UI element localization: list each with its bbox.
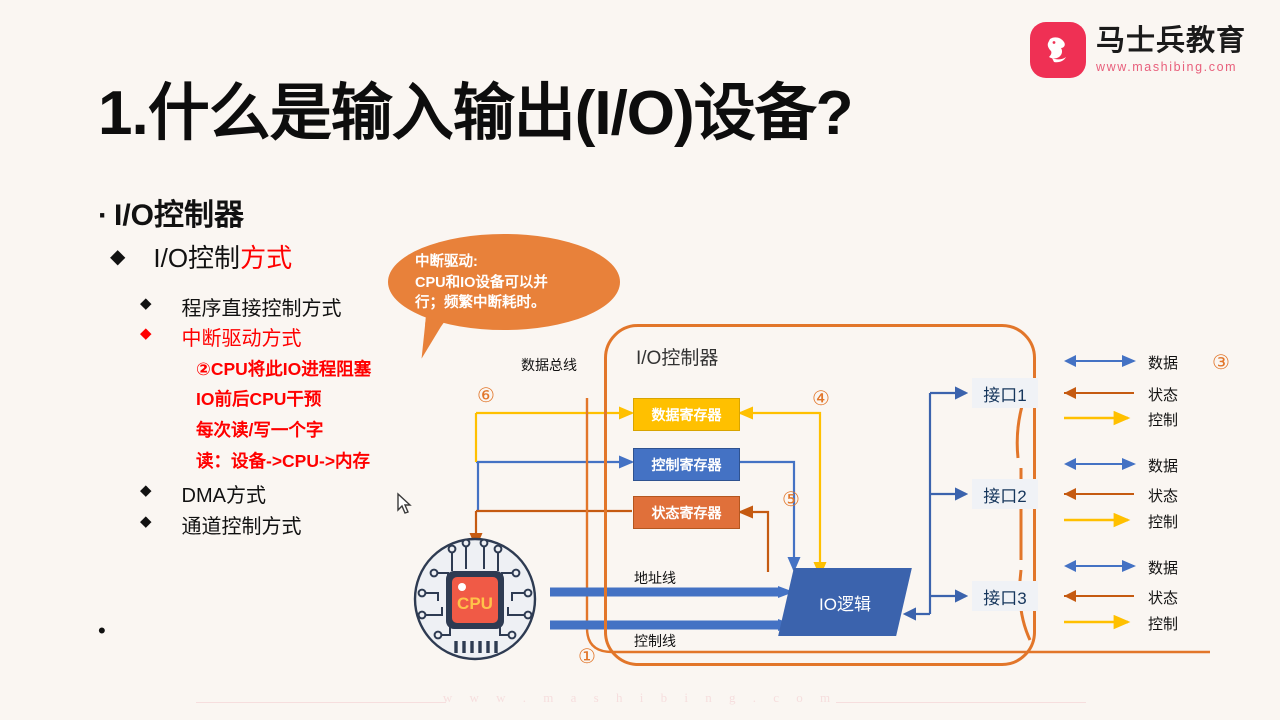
- signal-status-2: 状态: [1148, 485, 1178, 506]
- cpu-icon: CPU: [404, 535, 547, 663]
- step-number-6: ⑥: [477, 383, 495, 408]
- step-number-4: ④: [812, 386, 830, 411]
- watermark-rule-right: [836, 702, 1086, 703]
- register-control[interactable]: 控制寄存器: [633, 448, 740, 481]
- io-logic-label: IO逻辑: [786, 568, 904, 636]
- signal-control-3: 控制: [1148, 613, 1178, 634]
- step-number-3: ③: [1212, 350, 1230, 375]
- signal-control-2: 控制: [1148, 511, 1178, 532]
- signal-data-3: 数据: [1148, 557, 1178, 578]
- control-line-label: 控制线: [634, 631, 676, 651]
- io-controller-title: I/O控制器: [636, 343, 718, 370]
- interface-2[interactable]: 接口2: [972, 479, 1038, 509]
- signal-status-3: 状态: [1148, 587, 1178, 608]
- step-number-1: ①: [578, 644, 596, 669]
- cpu-label: CPU: [457, 594, 493, 613]
- step-number-5: ⑤: [782, 487, 800, 512]
- signal-control-1: 控制: [1148, 409, 1178, 430]
- signal-data-2: 数据: [1148, 455, 1178, 476]
- signal-status-1: 状态: [1148, 384, 1178, 405]
- signal-data-1: 数据: [1148, 352, 1178, 373]
- interface-3[interactable]: 接口3: [972, 581, 1038, 611]
- mouse-cursor-icon: [396, 492, 414, 516]
- address-line-label: 地址线: [634, 568, 676, 588]
- interface-1[interactable]: 接口1: [972, 378, 1038, 408]
- register-status[interactable]: 状态寄存器: [633, 496, 740, 529]
- slide-canvas: 马士兵教育 www.mashibing.com 1.什么是输入输出(I/O)设备…: [0, 0, 1280, 720]
- watermark-text: w w w . m a s h i b i n g . c o m: [0, 690, 1280, 706]
- register-data[interactable]: 数据寄存器: [633, 398, 740, 431]
- data-bus-label: 数据总线: [521, 355, 577, 375]
- io-logic-node[interactable]: IO逻辑: [786, 568, 904, 636]
